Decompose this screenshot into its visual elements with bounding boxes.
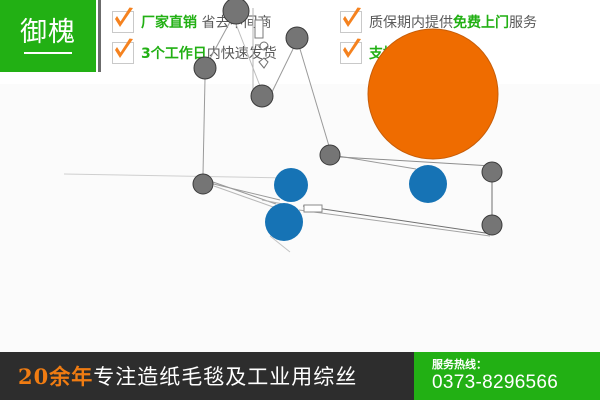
roller-center-mid [251,85,273,107]
felt-segment-6 [300,49,329,146]
hotline-label: 服务热线： [432,358,600,372]
blue-press-rollers [265,165,447,241]
press-roller-upper-left [274,168,308,202]
roller-center-lower [320,145,340,165]
felt-segment-14 [262,200,283,204]
machine-diagram [0,84,600,344]
press-roller-lower-left [265,203,303,241]
sensor-bar-icon [304,205,322,212]
press-roller-center [409,165,447,203]
felt-segment-5 [272,47,294,92]
footer-slogan: 20余年专注造纸毛毯及工业用综丝 [0,361,357,391]
felt-segment-2 [203,79,205,174]
roller-right-upper [482,162,502,182]
roller-top-right [286,27,308,49]
sensor-box-icon [255,20,263,38]
yankee-dryer-cylinder [368,29,498,159]
felt-segment-11 [299,210,490,236]
sensor-circle-icon [260,42,268,50]
footer-bar: 20余年专注造纸毛毯及工业用综丝 服务热线： 0373-8296566 [0,352,600,400]
footer-slogan-years: 20余年 [18,364,93,389]
felt-segment-12 [340,157,492,166]
footer-slogan-text: 专注造纸毛毯及工业用综丝 [93,365,357,389]
roller-top-left-upper [223,0,249,24]
footer-slogan-panel: 20余年专注造纸毛毯及工业用综丝 [0,352,414,400]
sheet-line-left [64,174,290,178]
sensor-diamond-icon [259,58,268,68]
product-banner: 御槐 厂家直销 省去中间商 [0,0,600,400]
hotline-number[interactable]: 0373-8296566 [432,372,600,394]
roller-left-lower [193,174,213,194]
felt-segment-10 [303,206,492,234]
footer-hotline-panel: 服务热线： 0373-8296566 [414,352,600,400]
roller-left-mid [194,57,216,79]
roller-right-lower [482,215,502,235]
